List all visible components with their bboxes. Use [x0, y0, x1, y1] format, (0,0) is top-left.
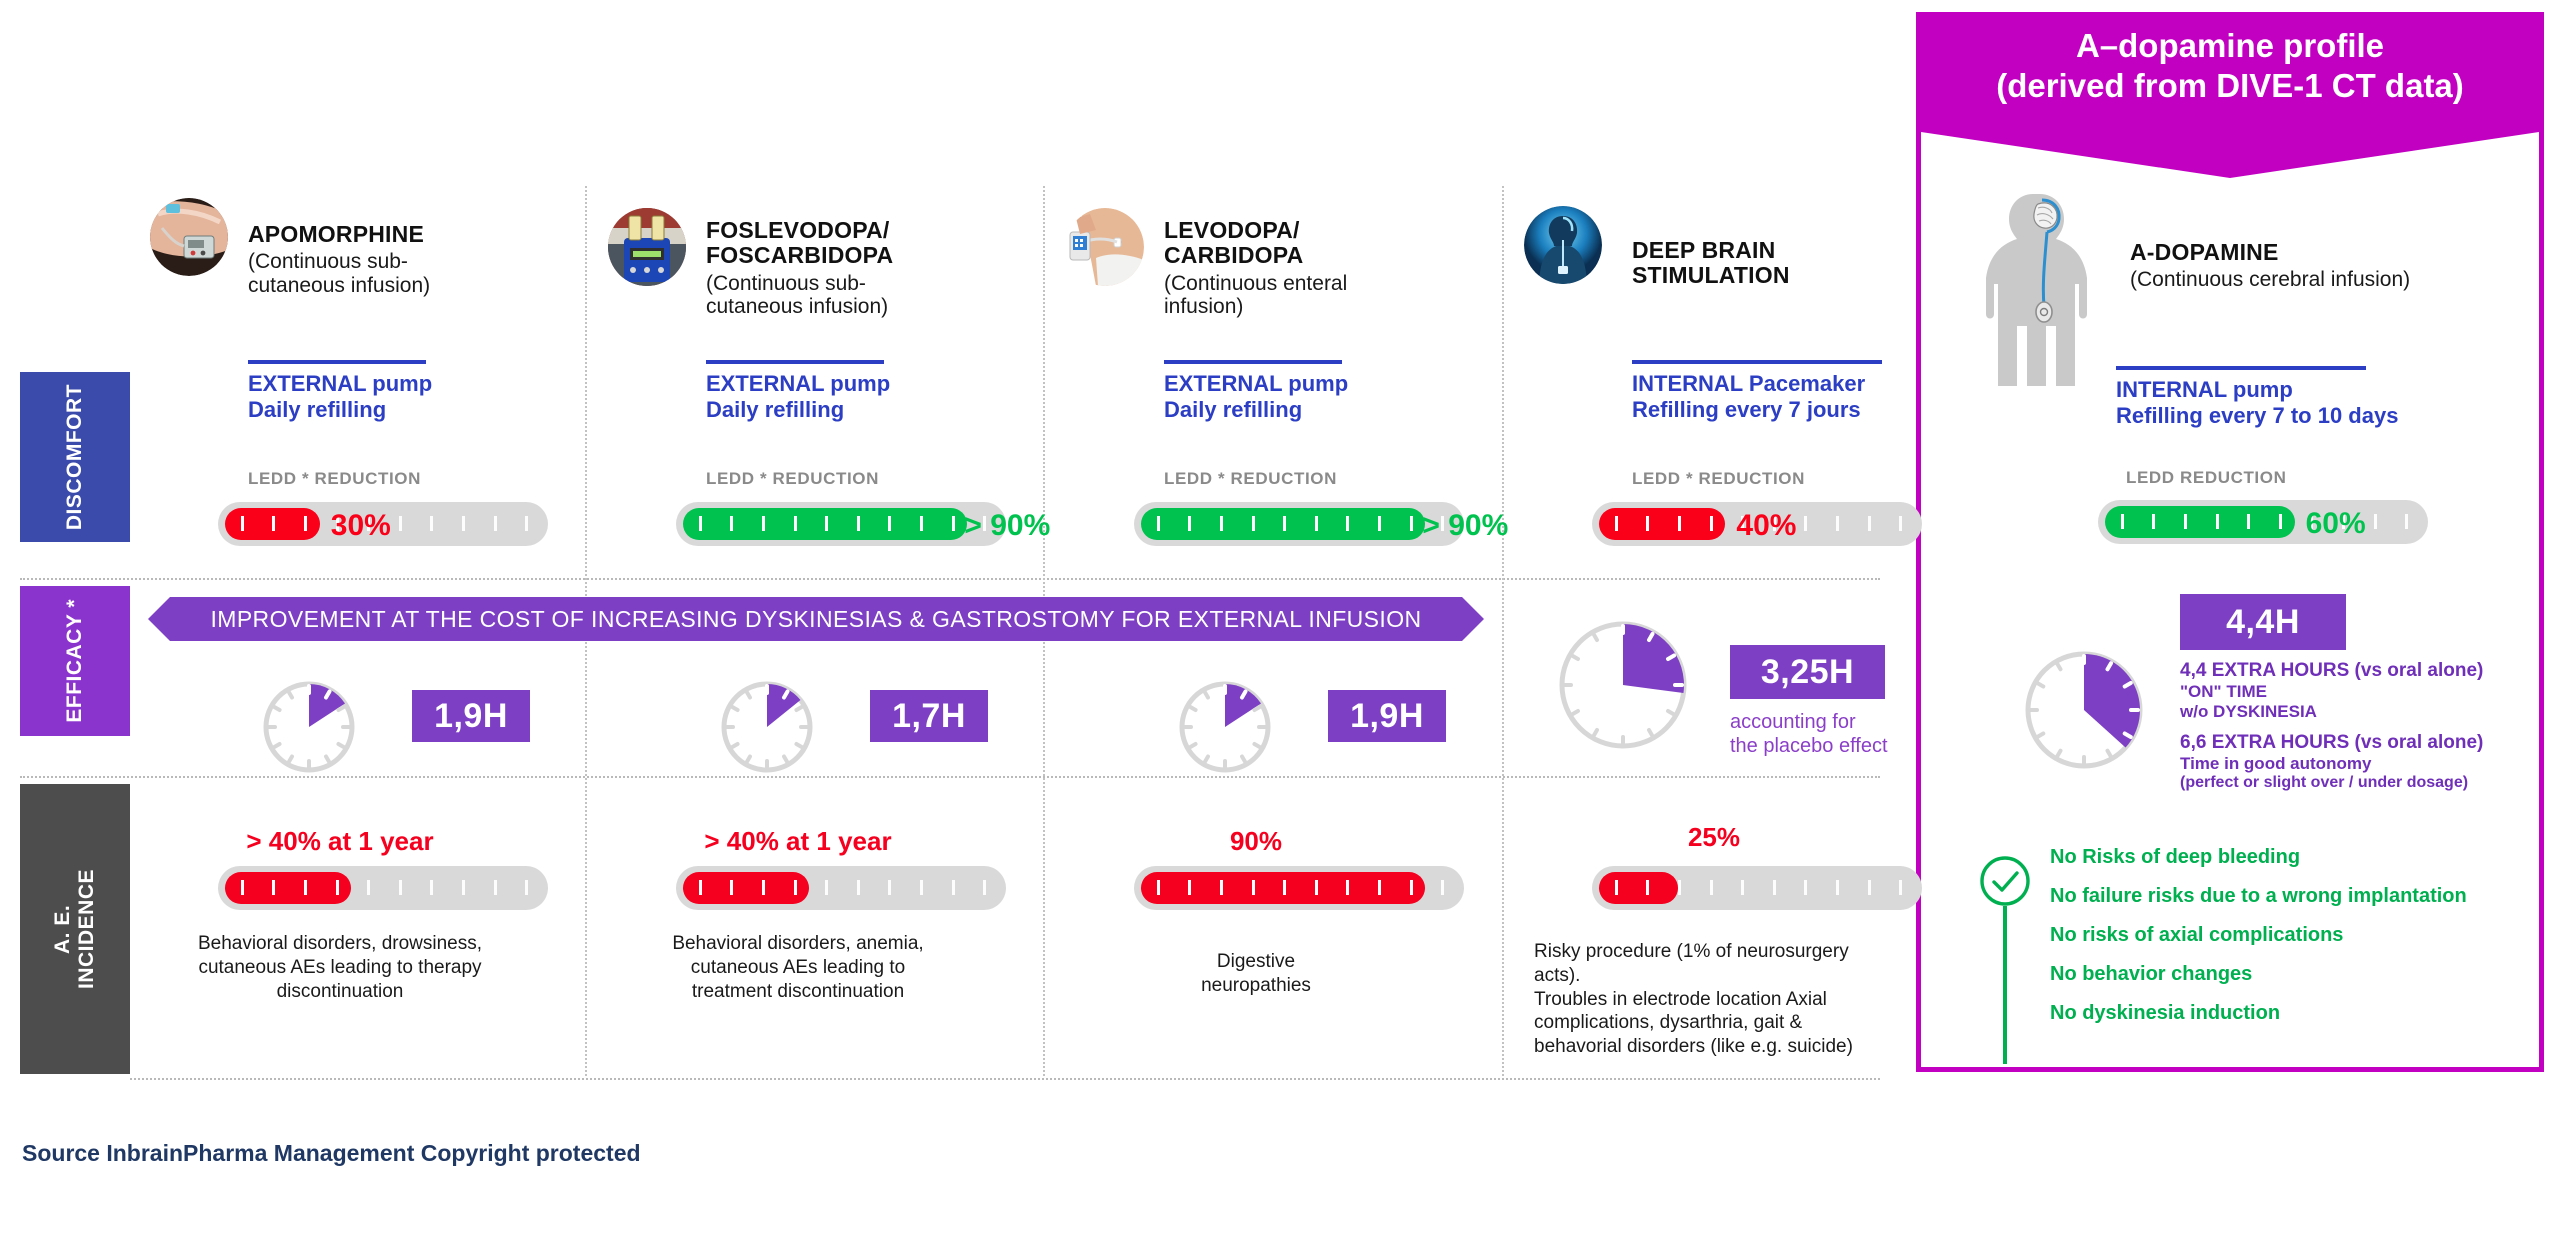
ae-percent-foslevodopa: > 40% at 1 year	[588, 826, 1008, 857]
benefit-item: No behavior changes	[2050, 955, 2520, 994]
column-subtitle-foslevodopa: (Continuous sub-cutaneous infusion)	[706, 272, 1006, 319]
row-label-ae-text: A. E.INCIDENCE	[51, 869, 99, 989]
ae-text-levodopa-carbidopa: Digestiveneuropathies	[1046, 950, 1466, 998]
efficacy-hours-a-dopamine: 4,4H	[2180, 594, 2346, 650]
column-header-levodopa-carbidopa: LEVODOPA/CARBIDOPA (Continuous enteralin…	[1164, 218, 1464, 319]
ledd-gauge	[676, 502, 1006, 546]
ledd-value-levodopa-carbidopa: > 90%	[1422, 509, 1508, 543]
efficacy-clock	[262, 680, 356, 774]
pump-divider-apomorphine	[248, 360, 426, 364]
benefit-item: No Risks of deep bleeding	[2050, 838, 2520, 877]
efficacy-clock	[2024, 650, 2144, 770]
ledd-gauge-ticks	[1134, 866, 1464, 910]
efficacy-clock	[1178, 680, 1272, 774]
efficacy-hours-apomorphine: 1,9H	[412, 690, 530, 742]
ledd-label-apomorphine: LEDD * REDUCTION	[248, 469, 421, 489]
ae-percent-deep-brain-stimulation: 25%	[1504, 822, 1924, 853]
column-thumbnail-levodopa-carbidopa	[1066, 208, 1144, 286]
ledd-label-levodopa-carbidopa: LEDD * REDUCTION	[1164, 469, 1337, 489]
pump-type-foslevodopa: EXTERNAL pump	[706, 371, 890, 397]
efficacy-detail-a-dopamine: 4,4 EXTRA HOURS (vs oral alone) "ON" TIM…	[2180, 660, 2550, 802]
banner-title-line2: (derived from DIVE-1 CT data)	[1916, 66, 2544, 106]
efficacy-detail-block: 6,6 EXTRA HOURS (vs oral alone) Time in …	[2180, 732, 2550, 792]
ledd-gauge	[676, 866, 1006, 910]
pump-type-a-dopamine: INTERNAL pump	[2116, 377, 2398, 403]
efficacy-clock	[720, 680, 814, 774]
column-title-deep-brain-stimulation: DEEP BRAINSTIMULATION	[1632, 238, 1932, 289]
pump-divider-levodopa-carbidopa	[1164, 360, 1342, 364]
ledd-gauge	[1592, 866, 1922, 910]
column-title-foslevodopa: FOSLEVODOPA/FOSCARBIDOPA	[706, 218, 1006, 269]
efficacy-detail-block: 4,4 EXTRA HOURS (vs oral alone) "ON" TIM…	[2180, 660, 2550, 722]
efficacy-note-deep-brain-stimulation: accounting forthe placebo effect	[1730, 710, 1940, 758]
efficacy-clock	[1558, 620, 1688, 750]
row-label-discomfort-text: DISCOMFORT	[63, 384, 87, 530]
column-thumbnail-apomorphine	[150, 198, 228, 276]
row-label-discomfort: DISCOMFORT	[20, 372, 130, 542]
column-title-levodopa-carbidopa: LEVODOPA/CARBIDOPA	[1164, 218, 1464, 269]
ledd-gauge-ticks	[1134, 502, 1464, 546]
ae-text-foslevodopa: Behavioral disorders, anemia,cutaneous A…	[588, 932, 1008, 1003]
pump-info-deep-brain-stimulation: INTERNAL Pacemaker Refilling every 7 jou…	[1632, 360, 1882, 424]
column-thumbnail-deep-brain-stimulation	[1524, 206, 1602, 284]
ae-percent-levodopa-carbidopa: 90%	[1046, 826, 1466, 857]
column-subtitle-apomorphine: (Continuous sub-cutaneous infusion)	[248, 250, 548, 297]
pump-refill-apomorphine: Daily refilling	[248, 397, 432, 423]
pump-type-deep-brain-stimulation: INTERNAL Pacemaker	[1632, 371, 1882, 397]
pump-divider-a-dopamine	[2116, 366, 2366, 370]
ledd-label-deep-brain-stimulation: LEDD * REDUCTION	[1632, 469, 1805, 489]
ledd-value-apomorphine: 30%	[331, 509, 391, 543]
column-subtitle-a-dopamine: (Continuous cerebral infusion)	[2130, 268, 2510, 292]
ledd-gauge	[218, 866, 548, 910]
source-footnote: Source InbrainPharma Management Copyrigh…	[22, 1140, 641, 1167]
row-separator-1	[20, 578, 1880, 580]
ledd-gauge	[2098, 500, 2428, 544]
pump-info-foslevodopa: EXTERNAL pump Daily refilling	[706, 360, 890, 424]
ledd-value-deep-brain-stimulation: 40%	[1736, 509, 1796, 543]
column-title-a-dopamine: A-DOPAMINE	[2130, 240, 2510, 265]
column-header-foslevodopa: FOSLEVODOPA/FOSCARBIDOPA (Continuous sub…	[706, 218, 1006, 319]
benefit-item: No failure risks due to a wrong implanta…	[2050, 877, 2520, 916]
ledd-label-foslevodopa: LEDD * REDUCTION	[706, 469, 879, 489]
ae-text-deep-brain-stimulation: Risky procedure (1% of neurosurgeryacts)…	[1534, 940, 1954, 1059]
row-label-efficacy-text: EFFICACY *	[63, 599, 87, 723]
column-header-deep-brain-stimulation: DEEP BRAINSTIMULATION	[1632, 238, 1932, 292]
banner-title-line1: A–dopamine profile	[1916, 26, 2544, 66]
benefit-item: No risks of axial complications	[2050, 916, 2520, 955]
ledd-value-a-dopamine: 60%	[2306, 507, 2366, 541]
pump-refill-a-dopamine: Refilling every 7 to 10 days	[2116, 403, 2398, 429]
efficacy-hours-levodopa-carbidopa: 1,9H	[1328, 690, 1446, 742]
pump-divider-deep-brain-stimulation	[1632, 360, 1882, 364]
ledd-gauge-ticks	[1592, 866, 1922, 910]
row-separator-2	[20, 776, 1880, 778]
benefits-list: No Risks of deep bleedingNo failure risk…	[2050, 838, 2520, 1033]
pump-type-apomorphine: EXTERNAL pump	[248, 371, 432, 397]
column-separator-3	[1502, 186, 1504, 1076]
pump-refill-deep-brain-stimulation: Refilling every 7 jours	[1632, 397, 1882, 423]
check-stem-line	[2003, 906, 2007, 1064]
pump-refill-levodopa-carbidopa: Daily refilling	[1164, 397, 1348, 423]
ledd-gauge	[1134, 866, 1464, 910]
a-dopamine-banner-title: A–dopamine profile (derived from DIVE-1 …	[1916, 26, 2544, 105]
ledd-gauge	[1134, 502, 1464, 546]
pump-info-a-dopamine: INTERNAL pump Refilling every 7 to 10 da…	[2116, 366, 2398, 430]
efficacy-hours-foslevodopa: 1,7H	[870, 690, 988, 742]
row-label-efficacy: EFFICACY *	[20, 586, 130, 736]
ledd-label-a-dopamine: LEDD REDUCTION	[2126, 468, 2286, 488]
column-thumbnail-a-dopamine	[1980, 188, 2100, 388]
a-dopamine-banner: A–dopamine profile (derived from DIVE-1 …	[1916, 12, 2544, 132]
column-header-a-dopamine: A-DOPAMINE (Continuous cerebral infusion…	[2130, 240, 2510, 292]
column-title-apomorphine: APOMORPHINE	[248, 222, 548, 247]
comparison-infographic: A–dopamine profile (derived from DIVE-1 …	[0, 0, 2560, 1243]
column-header-apomorphine: APOMORPHINE (Continuous sub-cutaneous in…	[248, 222, 548, 297]
ae-text-apomorphine: Behavioral disorders, drowsiness,cutaneo…	[130, 932, 550, 1003]
column-subtitle-levodopa-carbidopa: (Continuous enteralinfusion)	[1164, 272, 1464, 319]
ledd-gauge-ticks	[218, 866, 548, 910]
pump-divider-foslevodopa	[706, 360, 884, 364]
efficacy-banner: IMPROVEMENT AT THE COST OF INCREASING DY…	[170, 597, 1462, 641]
pump-info-apomorphine: EXTERNAL pump Daily refilling	[248, 360, 432, 424]
pump-info-levodopa-carbidopa: EXTERNAL pump Daily refilling	[1164, 360, 1348, 424]
pump-refill-foslevodopa: Daily refilling	[706, 397, 890, 423]
efficacy-hours-deep-brain-stimulation: 3,25H	[1730, 645, 1885, 699]
ledd-gauge-ticks	[676, 866, 1006, 910]
ledd-gauge-ticks	[2098, 500, 2428, 544]
ledd-gauge-ticks	[676, 502, 1006, 546]
ledd-value-foslevodopa: > 90%	[964, 509, 1050, 543]
ae-percent-apomorphine: > 40% at 1 year	[130, 826, 550, 857]
row-separator-3	[130, 1078, 1880, 1080]
column-thumbnail-foslevodopa	[608, 208, 686, 286]
row-label-ae-incidence: A. E.INCIDENCE	[20, 784, 130, 1074]
benefit-item: No dyskinesia induction	[2050, 994, 2520, 1033]
pump-type-levodopa-carbidopa: EXTERNAL pump	[1164, 371, 1348, 397]
check-circle-icon	[1978, 854, 2032, 908]
